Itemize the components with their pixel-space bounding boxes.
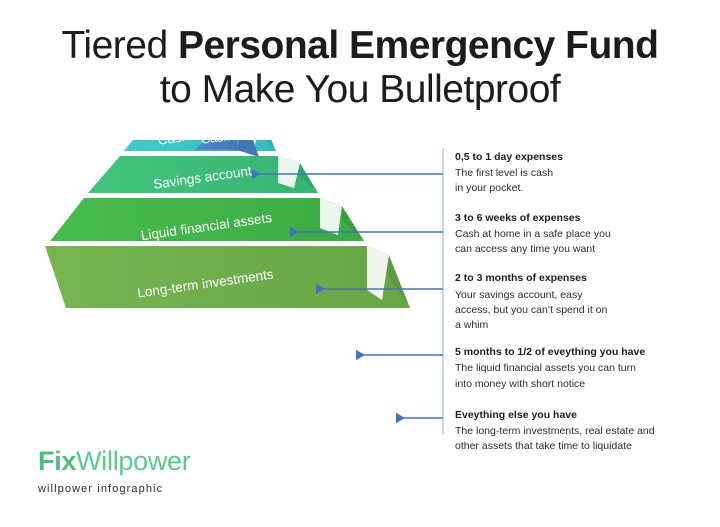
annotation-item: 3 to 6 weeks of expenses Cash at home in… [455,211,713,258]
annotation-line: a whim [455,318,713,333]
annotation-heading: Eveything else you have [455,408,713,423]
annotation-item: Eveything else you have The long-term in… [455,408,713,455]
title-line-2: to Make You Bulletproof [0,68,720,112]
logo-wordmark: FixWillpower [38,447,190,477]
title-line-1-bold: Personal Emergency Fund [178,24,658,67]
annotation-heading: 5 months to 1/2 of eveything you have [455,345,713,360]
logo-fix-text: Fix [38,446,76,476]
annotation-item: 2 to 3 months of expenses Your savings a… [455,271,713,333]
annotation-line: can access any time you want [455,242,713,257]
title-line-1: Tiered Personal Emergency Fund [0,24,720,68]
annotation-line: into money with short notice [455,377,713,392]
annotation-list: 0,5 to 1 day expenses The first level is… [455,150,713,455]
annotation-heading: 3 to 6 weeks of expenses [455,211,713,226]
annotation-line: Your savings account, easy [455,288,713,303]
annotation-line: access, but you can’t spend it on [455,303,713,318]
title-line-1-light: Tiered [62,24,178,67]
annotation-line: The first level is cash [455,166,713,181]
annotation-line: The liquid financial assets you can turn [455,361,713,376]
annotation-item: 5 months to 1/2 of eveything you have Th… [455,345,713,392]
annotation-line: Cash at home in a safe place you [455,227,713,242]
logo-willpower-text: Willpower [76,446,190,476]
annotation-line: The long-term investments, real estate a… [455,424,713,439]
annotation-item: 0,5 to 1 day expenses The first level is… [455,150,713,197]
annotation-line: other assets that take time to liquidate [455,439,713,454]
brand-logo: FixWillpower willpower infographic [38,447,190,495]
pyramid-diagram: Cash Cash at home Savings account Liquid… [20,140,440,450]
annotation-heading: 2 to 3 months of expenses [455,271,713,286]
annotation-heading: 0,5 to 1 day expenses [455,150,713,165]
logo-tagline: willpower infographic [38,483,190,495]
page-title: Tiered Personal Emergency Fund to Make Y… [0,24,720,111]
annotation-line: in your pocket. [455,181,713,196]
